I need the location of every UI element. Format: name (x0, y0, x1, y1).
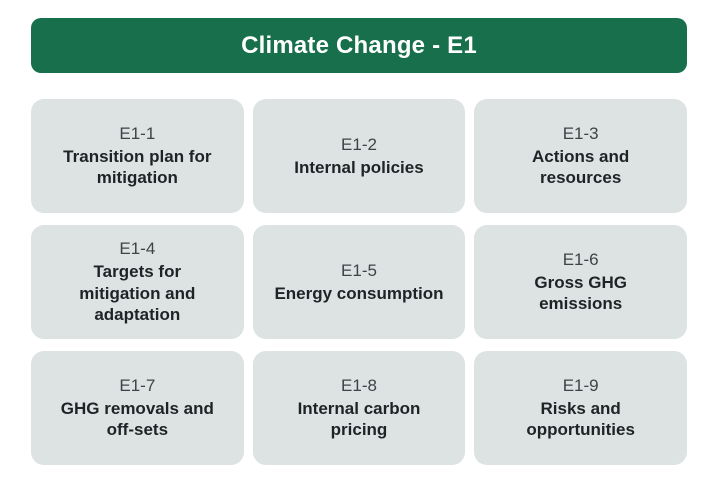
card-e1-2[interactable]: E1-2 Internal policies (253, 99, 466, 213)
card-e1-3[interactable]: E1-3 Actions and resources (474, 99, 687, 213)
card-code: E1-4 (119, 238, 155, 260)
page-title: Climate Change - E1 (241, 34, 477, 58)
card-title: Internal carbon pricing (274, 398, 444, 442)
card-code: E1-9 (563, 375, 599, 397)
card-code: E1-3 (563, 123, 599, 145)
climate-change-e1-overview: Climate Change - E1 E1-1 Transition plan… (0, 0, 718, 488)
card-e1-7[interactable]: E1-7 GHG removals and off-sets (31, 351, 244, 465)
disclosure-card-grid: E1-1 Transition plan for mitigation E1-2… (31, 99, 687, 465)
card-e1-6[interactable]: E1-6 Gross GHG emissions (474, 225, 687, 339)
card-title: Risks and opportunities (496, 398, 666, 442)
card-code: E1-5 (341, 260, 377, 282)
card-code: E1-8 (341, 375, 377, 397)
card-code: E1-6 (563, 249, 599, 271)
card-code: E1-2 (341, 134, 377, 156)
card-e1-4[interactable]: E1-4 Targets for mitigation and adaptati… (31, 225, 244, 339)
card-code: E1-7 (119, 375, 155, 397)
card-title: GHG removals and off-sets (52, 398, 222, 442)
card-e1-8[interactable]: E1-8 Internal carbon pricing (253, 351, 466, 465)
card-e1-1[interactable]: E1-1 Transition plan for mitigation (31, 99, 244, 213)
card-title: Gross GHG emissions (496, 272, 666, 316)
card-e1-5[interactable]: E1-5 Energy consumption (253, 225, 466, 339)
card-title: Internal policies (294, 157, 423, 179)
card-code: E1-1 (119, 123, 155, 145)
card-e1-9[interactable]: E1-9 Risks and opportunities (474, 351, 687, 465)
card-title: Transition plan for mitigation (52, 146, 222, 190)
card-title: Energy consumption (274, 283, 443, 305)
header-bar: Climate Change - E1 (31, 18, 687, 73)
card-title: Targets for mitigation and adaptation (52, 261, 222, 326)
card-title: Actions and resources (496, 146, 666, 190)
